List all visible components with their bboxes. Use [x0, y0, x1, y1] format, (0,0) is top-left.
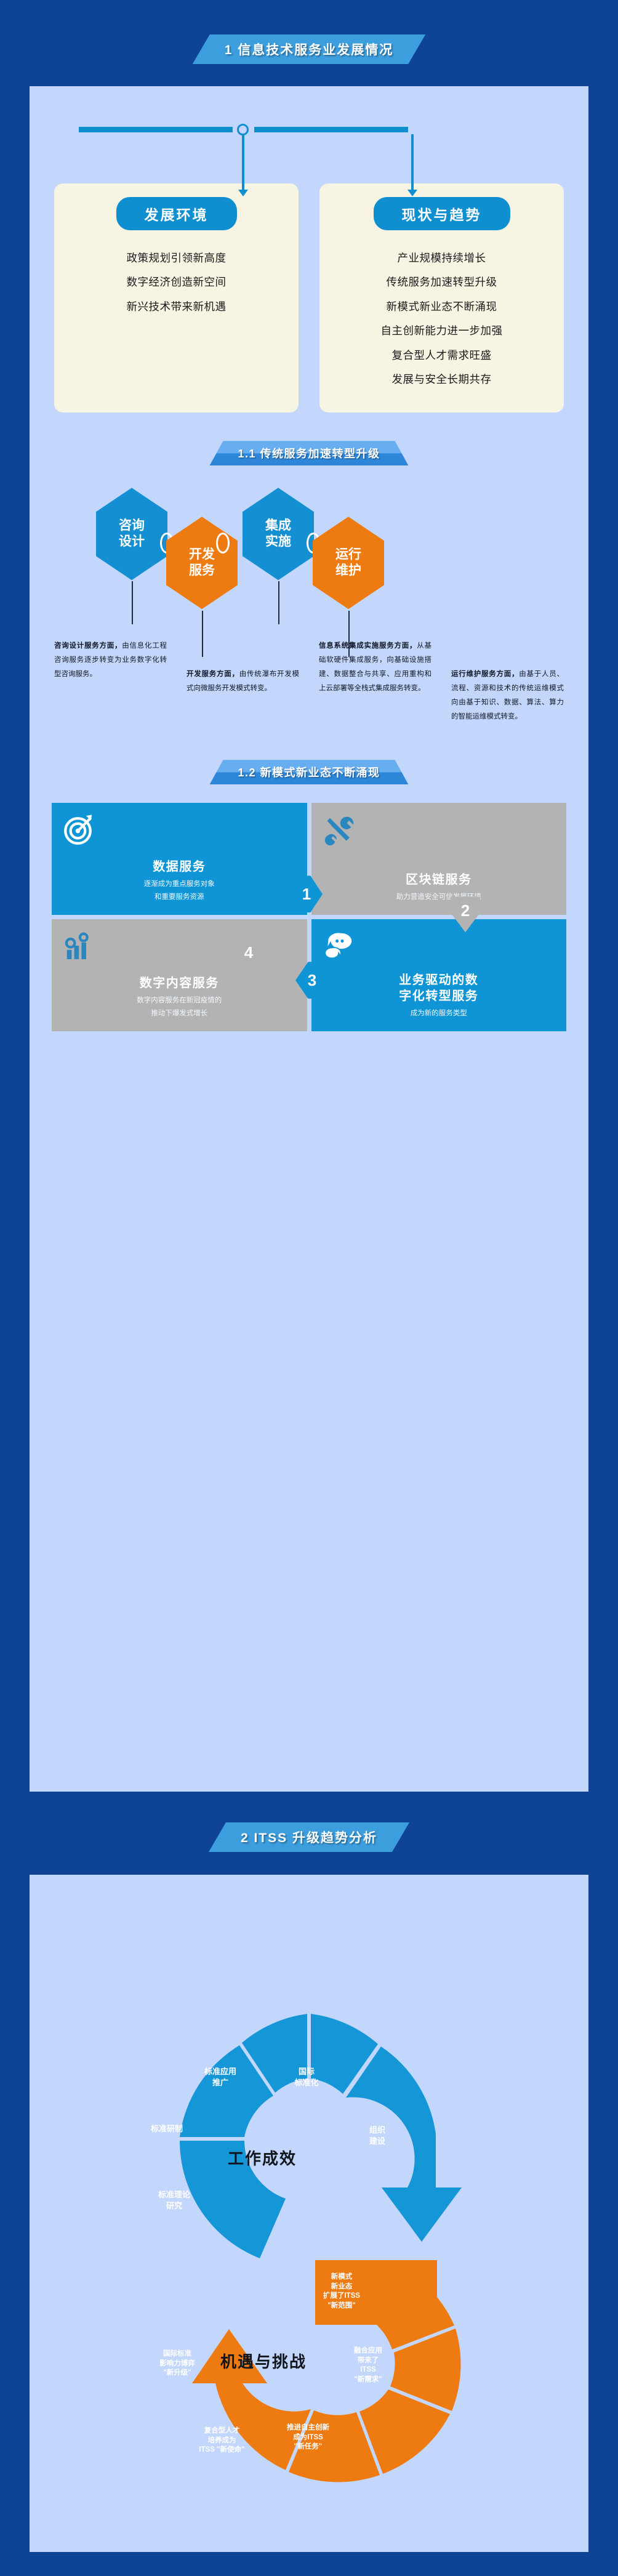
- target-icon: [63, 813, 96, 846]
- cycle-label-independent-innovation: 推进自主创新 成为ITSS "新任务": [270, 2423, 347, 2452]
- hexagon-operation-maintenance[interactable]: 运行 维护: [313, 517, 384, 609]
- quadrant-texts: 业务驱动的数 字化转型服务 成为新的服务类型: [323, 972, 556, 1020]
- quadrant-business-driven-transformation[interactable]: 业务驱动的数 字化转型服务 成为新的服务类型: [311, 919, 567, 1031]
- description-lead: 信息系统集成实施服务方面，: [319, 642, 417, 650]
- description-operations: 运行维护服务方面，由基于人员、流程、资源和技术的传统运维模式向由基于知识、数据、…: [441, 639, 574, 724]
- connector-tip-left: [238, 190, 248, 196]
- section2-banner-label: 2 ITSS 升级趋势分析: [241, 1828, 377, 1846]
- description-lead: 咨询设计服务方面，: [54, 642, 122, 650]
- hexagon-label: 咨询 设计: [119, 518, 145, 550]
- description-integration: 信息系统集成实施服务方面，从基础软硬件集成服务，向基础设施搭建、数据整合与共享、…: [309, 639, 441, 724]
- cards-row: 发展环境 政策规划引领新高度 数字经济创造新空间 新兴技术带来新机遇 现状与趋势…: [30, 183, 588, 413]
- quadrant-texts: 数据服务 逐渐成为重点服务对象 和重要服务资源: [63, 859, 296, 904]
- description-body: 由基于人员、流程、资源和技术的传统运维模式向由基于知识、数据、算法、算力的智能运…: [451, 670, 564, 720]
- hexagon-connector-2: [216, 533, 230, 553]
- cycle-label-standard-theory: 标准理论 研究: [140, 2189, 208, 2211]
- list-item: 复合型人才需求旺盛: [332, 344, 552, 368]
- section11-banner: 1.1 传统服务加速转型升级: [209, 441, 408, 465]
- tools-icon: [323, 813, 356, 846]
- quadrant-title: 业务驱动的数 字化转型服务: [323, 972, 556, 1004]
- card-status-and-trends: 现状与趋势 产业规模持续增长 传统服务加速转型升级 新模式新业态不断涌现 自主创…: [319, 183, 564, 413]
- step-number: 4: [244, 943, 253, 962]
- hexagon-descriptions: 咨询设计服务方面，由信息化工程咨询服务逐步转变为业务数字化转型咨询服务。 开发服…: [30, 639, 588, 724]
- quadrant-title: 区块链服务: [323, 872, 556, 888]
- cycle-label-international-standardization: 国际 标准化: [276, 2066, 337, 2088]
- hexagon-label: 运行 维护: [335, 547, 361, 579]
- quadrant-title: 数字内容服务: [63, 975, 296, 991]
- quadrant-subtitle: 成为新的服务类型: [323, 1007, 556, 1020]
- step-number: 2: [461, 901, 470, 920]
- step-number: 3: [308, 971, 316, 990]
- section2-banner: 2 ITSS 升级趋势分析: [209, 1822, 409, 1852]
- section2-banner-wrap: 2 ITSS 升级趋势分析: [0, 1822, 618, 1852]
- list-item: 产业规模持续增长: [332, 246, 552, 270]
- quadrant-digital-content-service[interactable]: 数字内容服务 数字内容服务在新冠疫情的 推动下爆发式增长: [52, 919, 307, 1031]
- list-item: 发展与安全长期共存: [332, 368, 552, 392]
- step-number: 1: [302, 885, 311, 904]
- list-item: 新兴技术带来新机遇: [66, 295, 286, 319]
- section2-panel: 标准应用 推广 国际 标准化 组织 建设 标准研制 标准理论 研究 工作成效 新…: [30, 1875, 588, 2552]
- hexagon-integration-implementation[interactable]: 集成 实施: [243, 488, 314, 580]
- cycle-label-integrated-application: 融合应用 带来了 ITSS "新需求": [337, 2346, 399, 2385]
- description-lead: 开发服务方面，: [187, 670, 239, 678]
- quadrant-texts: 区块链服务 助力营造安全可信发展环境: [323, 872, 556, 904]
- cycle-label-composite-talent: 复合型人才 培养成为 ITSS "新使命": [183, 2426, 260, 2455]
- cycle-top-arc: [180, 2014, 462, 2258]
- list-item: 传统服务加速转型升级: [332, 270, 552, 294]
- section11-banner-label: 1.1 传统服务加速转型升级: [238, 445, 380, 461]
- hexagon-label: 开发 服务: [189, 547, 215, 579]
- cycle-label-standard-application: 标准应用 推广: [187, 2066, 254, 2088]
- description-consulting: 咨询设计服务方面，由信息化工程咨询服务逐步转变为业务数字化转型咨询服务。: [44, 639, 177, 724]
- card-list: 产业规模持续增长 传统服务加速转型升级 新模式新业态不断涌现 自主创新能力进一步…: [332, 246, 552, 392]
- quadrant-blockchain-service[interactable]: 区块链服务 助力营造安全可信发展环境: [311, 803, 567, 915]
- quadrant-subtitle: 逐渐成为重点服务对象 和重要服务资源: [63, 878, 296, 904]
- cycle-label-standard-development: 标准研制: [133, 2123, 201, 2135]
- hexagon-stem-3: [278, 581, 279, 624]
- card-development-environment: 发展环境 政策规划引领新高度 数字经济创造新空间 新兴技术带来新机遇: [54, 183, 299, 413]
- quadrant-grid-wrap: 数据服务 逐渐成为重点服务对象 和重要服务资源 区块链服务 助力营造安全可信发展…: [52, 803, 566, 1031]
- hexagon-label: 集成 实施: [265, 518, 291, 550]
- section1-banner-label: 1 信息技术服务业发展情况: [225, 40, 394, 58]
- hexagon-process: 咨询 设计 开发 服务 集成 实施 运行 维护: [30, 481, 588, 635]
- connector-tip-right: [407, 190, 417, 196]
- card-title: 现状与趋势: [374, 197, 510, 230]
- card-title: 发展环境: [116, 197, 237, 230]
- section12-banner: 1.2 新模式新业态不断涌现: [209, 760, 408, 784]
- hexagon-consulting-design[interactable]: 咨询 设计: [96, 488, 167, 580]
- description-body: 从基础软硬件集成服务，向基础设施搭建、数据整合与共享、应用重构和上云部署等全栈式…: [319, 642, 431, 692]
- section11-banner-wrap: 1.1 传统服务加速转型升级: [30, 441, 588, 465]
- section1-banner: 1 信息技术服务业发展情况: [193, 34, 426, 64]
- itss-cycle-diagram: 标准应用 推广 国际 标准化 组织 建设 标准研制 标准理论 研究 工作成效 新…: [30, 1891, 588, 2531]
- list-item: 数字经济创造新空间: [66, 270, 286, 294]
- chat-bubbles-icon: [323, 929, 356, 962]
- hexagon-development-service[interactable]: 开发 服务: [166, 517, 238, 609]
- connector-drop-right: [411, 134, 414, 191]
- quadrant-texts: 数字内容服务 数字内容服务在新冠疫情的 推动下爆发式增长: [63, 975, 296, 1021]
- connector-bar-left: [79, 127, 233, 132]
- list-item: 自主创新能力进一步加强: [332, 319, 552, 343]
- section1-banner-wrap: 1 信息技术服务业发展情况: [0, 34, 618, 64]
- list-item: 新模式新业态不断涌现: [332, 295, 552, 319]
- list-item: 政策规划引领新高度: [66, 246, 286, 270]
- cycle-center-bottom-label: 机遇与挑战: [220, 2349, 307, 2372]
- cycle-label-international-influence: 国际标准 影响力博弈 "新升级": [143, 2349, 211, 2378]
- section12-banner-label: 1.2 新模式新业态不断涌现: [238, 764, 380, 780]
- cycle-label-organization-building: 组织 建设: [350, 2125, 405, 2146]
- cycle-svg: [30, 1891, 588, 2513]
- description-lead: 运行维护服务方面，: [451, 670, 519, 678]
- section12-banner-wrap: 1.2 新模式新业态不断涌现: [30, 760, 588, 784]
- description-development: 开发服务方面，由传统瀑布开发模式向微服务开发模式转变。: [177, 639, 309, 724]
- quadrant-data-service[interactable]: 数据服务 逐渐成为重点服务对象 和重要服务资源: [52, 803, 307, 915]
- quadrant-subtitle: 数字内容服务在新冠疫情的 推动下爆发式增长: [63, 994, 296, 1021]
- section1-panel: 发展环境 政策规划引领新高度 数字经济创造新空间 新兴技术带来新机遇 现状与趋势…: [30, 86, 588, 1792]
- connector-bar-right: [254, 127, 408, 132]
- cycle-label-new-models: 新模式 新业态 扩展了ITSS "新范围": [308, 2272, 375, 2311]
- quadrant-subtitle: 助力营造安全可信发展环境: [323, 891, 556, 904]
- quadrant-title: 数据服务: [63, 859, 296, 875]
- card-list: 政策规划引领新高度 数字经济创造新空间 新兴技术带来新机遇: [66, 246, 286, 319]
- connector-row: [30, 116, 588, 183]
- connector-drop-left: [242, 134, 244, 191]
- cycle-center-top-label: 工作成效: [228, 2146, 297, 2169]
- chart-gear-icon: [63, 929, 96, 962]
- hexagon-stem-1: [132, 581, 133, 624]
